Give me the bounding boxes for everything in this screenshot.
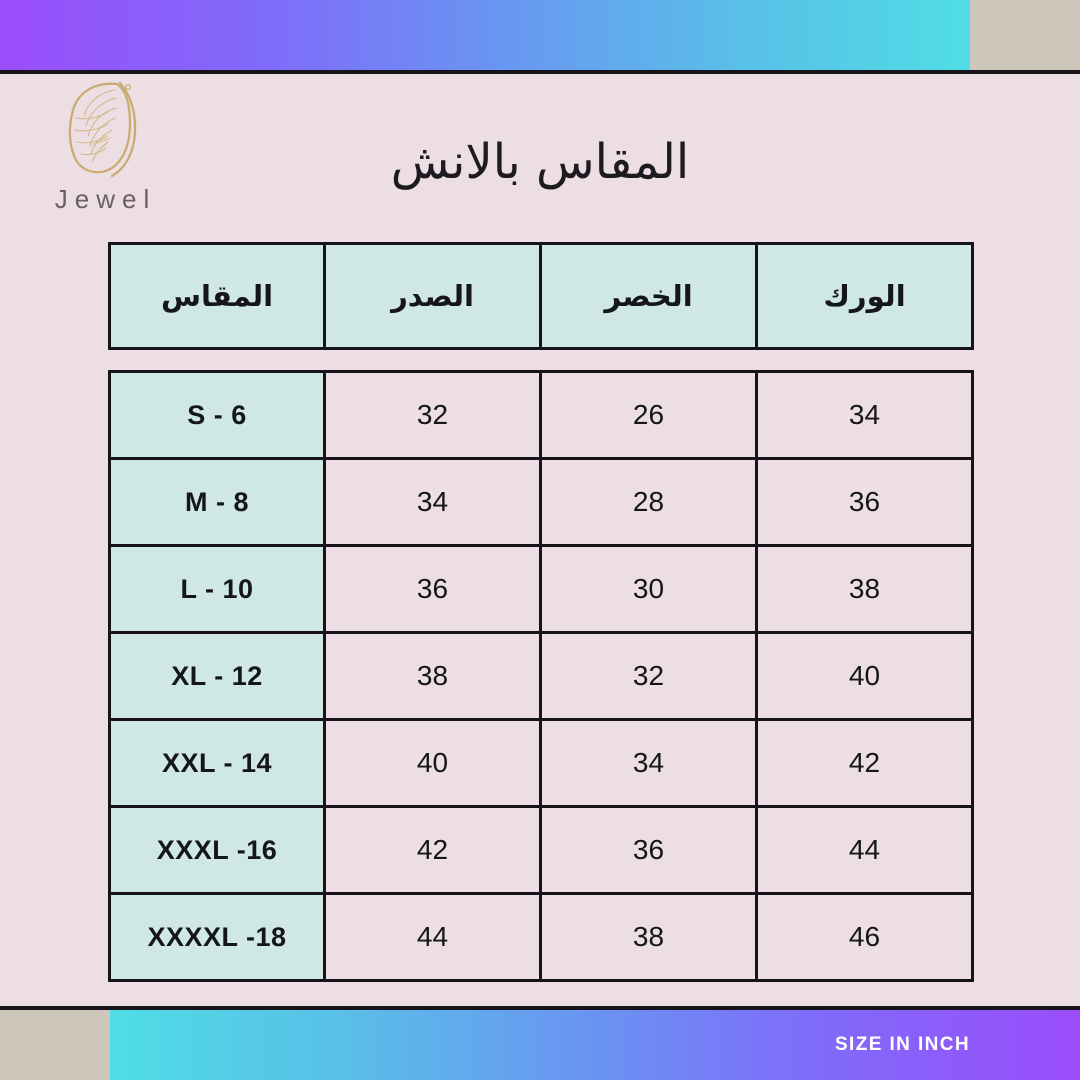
unit-caption: SIZE IN INCH bbox=[835, 1034, 970, 1056]
column-header-size: المقاس bbox=[110, 244, 325, 349]
cell-waist: 26 bbox=[541, 372, 757, 459]
cell-chest: 34 bbox=[325, 459, 541, 546]
cell-waist: 28 bbox=[541, 459, 757, 546]
table-row: XXL - 14 40 34 42 bbox=[110, 720, 973, 807]
column-header-chest: الصدر bbox=[325, 244, 541, 349]
size-chart-header-table: المقاس الصدر الخصر الورك bbox=[108, 242, 974, 350]
table-row: M - 8 34 28 36 bbox=[110, 459, 973, 546]
column-header-hips: الورك bbox=[757, 244, 973, 349]
table-header-row: المقاس الصدر الخصر الورك bbox=[110, 244, 973, 349]
cell-hips: 40 bbox=[757, 633, 973, 720]
cell-size: XXXL -16 bbox=[110, 807, 325, 894]
cell-waist: 36 bbox=[541, 807, 757, 894]
top-gradient-banner bbox=[0, 0, 970, 70]
cell-chest: 44 bbox=[325, 894, 541, 981]
table-row: XXXL -16 42 36 44 bbox=[110, 807, 973, 894]
bottom-left-beige-block bbox=[0, 1010, 110, 1080]
cell-waist: 32 bbox=[541, 633, 757, 720]
cell-size: XXL - 14 bbox=[110, 720, 325, 807]
cell-waist: 30 bbox=[541, 546, 757, 633]
cell-size: XXXXL -18 bbox=[110, 894, 325, 981]
cell-chest: 38 bbox=[325, 633, 541, 720]
cell-size: M - 8 bbox=[110, 459, 325, 546]
table-row: L - 10 36 30 38 bbox=[110, 546, 973, 633]
table-row: XXXXL -18 44 38 46 bbox=[110, 894, 973, 981]
cell-size: S - 6 bbox=[110, 372, 325, 459]
cell-chest: 32 bbox=[325, 372, 541, 459]
cell-hips: 44 bbox=[757, 807, 973, 894]
cell-chest: 40 bbox=[325, 720, 541, 807]
cell-size: XL - 12 bbox=[110, 633, 325, 720]
bottom-gradient-banner: SIZE IN INCH bbox=[110, 1010, 1080, 1080]
cell-hips: 46 bbox=[757, 894, 973, 981]
cell-hips: 36 bbox=[757, 459, 973, 546]
cell-size: L - 10 bbox=[110, 546, 325, 633]
cell-waist: 38 bbox=[541, 894, 757, 981]
size-chart-body-table: S - 6 32 26 34 M - 8 34 28 36 L - 10 36 … bbox=[108, 370, 974, 982]
size-chart-canvas: Jewel المقاس بالانش المقاس الصدر الخصر ا… bbox=[0, 0, 1080, 1080]
cell-hips: 34 bbox=[757, 372, 973, 459]
cell-hips: 38 bbox=[757, 546, 973, 633]
column-header-waist: الخصر bbox=[541, 244, 757, 349]
cell-waist: 34 bbox=[541, 720, 757, 807]
top-divider-rule bbox=[0, 70, 1080, 74]
cell-chest: 42 bbox=[325, 807, 541, 894]
top-right-beige-block bbox=[970, 0, 1080, 70]
cell-hips: 42 bbox=[757, 720, 973, 807]
cell-chest: 36 bbox=[325, 546, 541, 633]
page-title: المقاس بالانش bbox=[0, 134, 1080, 190]
table-row: S - 6 32 26 34 bbox=[110, 372, 973, 459]
table-row: XL - 12 38 32 40 bbox=[110, 633, 973, 720]
